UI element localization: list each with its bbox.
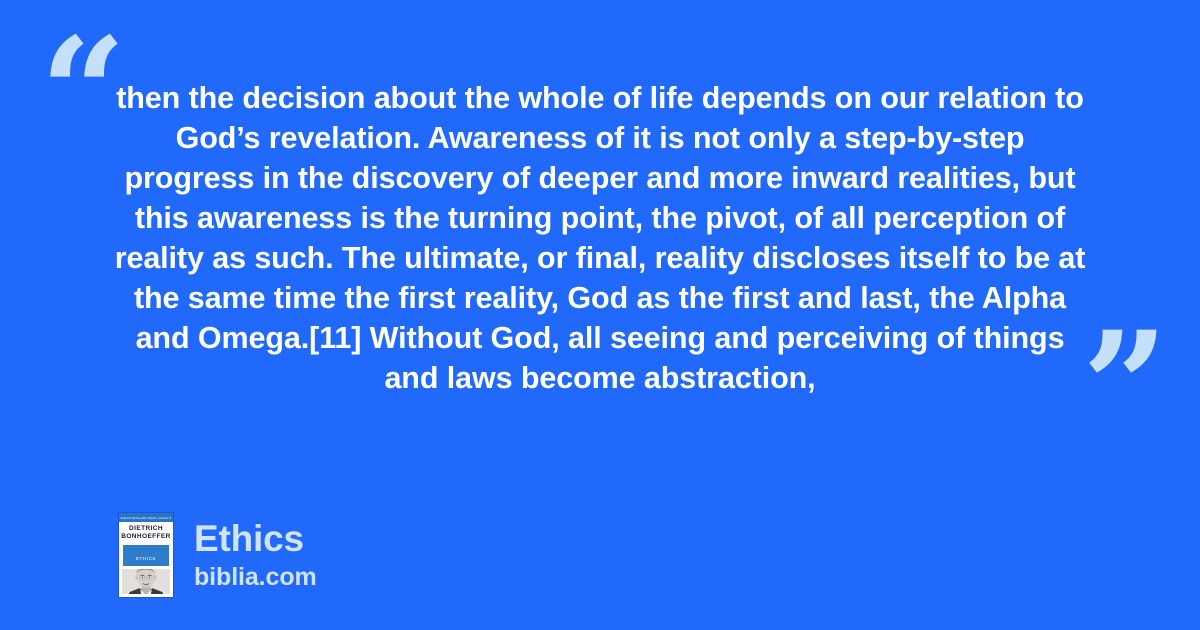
book-title: Ethics [194,518,317,560]
attribution-block: Dietrich Bonhoeffer Works, Volume 6 DIET… [118,512,317,598]
closing-quote-icon: ” [1082,312,1168,462]
quote-card: “ ” then the decision about the whole of… [0,0,1200,630]
book-cover-series-band: Dietrich Bonhoeffer Works, Volume 6 [119,513,173,522]
book-cover-author-first: DIETRICH [121,525,171,533]
book-cover-author-block: DIETRICH BONHOEFFER [119,522,173,543]
book-cover-author-last: BONHOEFFER [121,533,171,541]
book-cover-series-text: Dietrich Bonhoeffer Works, Volume 6 [121,516,171,520]
quote-text: then the decision about the whole of lif… [108,78,1092,398]
attribution-text-block: Ethics biblia.com [194,518,317,592]
site-name[interactable]: biblia.com [194,562,317,592]
book-cover-thumbnail[interactable]: Dietrich Bonhoeffer Works, Volume 6 DIET… [118,512,174,598]
book-cover-title-band: ETHICS [123,545,169,566]
book-cover-title-text: ETHICS [136,556,156,561]
book-cover-portrait-photo [122,569,170,594]
